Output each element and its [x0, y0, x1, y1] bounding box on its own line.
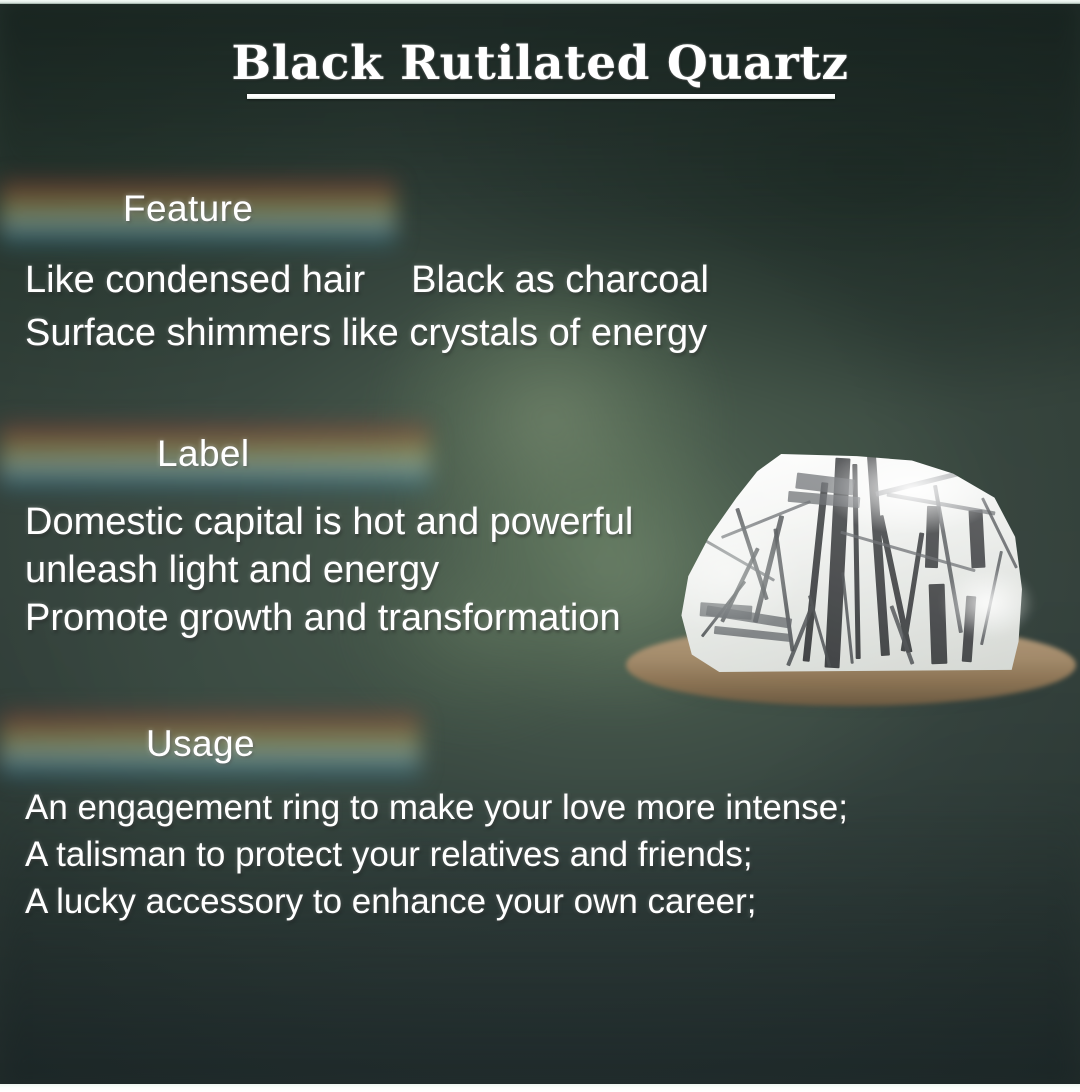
bottom-edge-strip: [0, 1084, 1080, 1092]
section-body-feature: Like condensed hairBlack as charcoal Sur…: [25, 254, 709, 360]
section-heading-usage: Usage: [146, 723, 255, 765]
usage-line-2: A talisman to protect your relatives and…: [25, 831, 848, 878]
usage-line-1: An engagement ring to make your love mor…: [25, 784, 848, 831]
quartz-stone: [678, 454, 1022, 672]
feature-line-1: Like condensed hairBlack as charcoal: [25, 254, 709, 307]
section-body-label: Domestic capital is hot and powerful unl…: [25, 498, 633, 642]
section-heading-feature: Feature: [123, 188, 253, 230]
feature-line-2: Surface shimmers like crystals of energy: [25, 307, 709, 360]
feature-line-1-part-b: Black as charcoal: [411, 259, 709, 301]
section-heading-label: Label: [157, 433, 250, 475]
title-underline-rule: [247, 94, 835, 99]
top-edge-strip: [0, 0, 1080, 4]
page-title: Black Rutilated Quartz: [231, 40, 848, 87]
feature-line-1-part-a: Like condensed hair: [25, 259, 365, 301]
rutile-inclusions: [678, 454, 1022, 672]
crystal-specimen-image: [612, 448, 1080, 723]
label-line-1: Domestic capital is hot and powerful: [25, 498, 633, 546]
poster-title-wrap: Black Rutilated Quartz: [0, 40, 1080, 87]
label-line-2: unleash light and energy: [25, 546, 633, 594]
label-line-3: Promote growth and transformation: [25, 594, 633, 642]
section-body-usage: An engagement ring to make your love mor…: [25, 784, 848, 925]
product-info-poster: Black Rutilated Quartz Feature Like cond…: [0, 0, 1080, 1092]
usage-line-3: A lucky accessory to enhance your own ca…: [25, 878, 848, 925]
